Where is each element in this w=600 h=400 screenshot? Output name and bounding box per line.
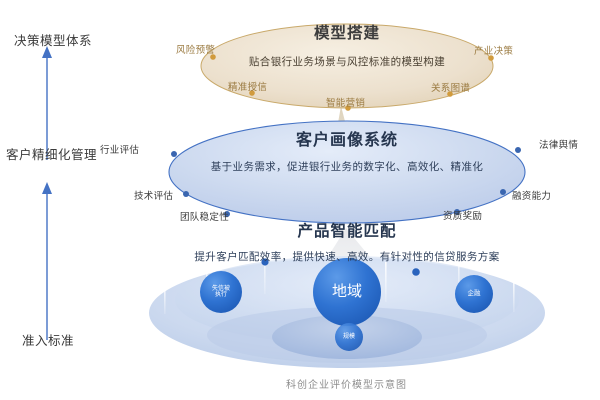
bubble-label: 规模 xyxy=(343,334,355,340)
bubble-line-2: 执行 xyxy=(212,292,230,298)
axis-label-decision-model: 决策模型体系 xyxy=(14,30,92,49)
node-label-industry-decision: 产业决策 xyxy=(474,43,513,57)
diagram-canvas: 决策模型体系 客户精细化管理 准入标准 模型搭建 贴合银行业务场景与风控标准的模… xyxy=(0,0,600,400)
axis-label-customer-management: 客户精细化管理 xyxy=(6,144,97,163)
bubble-label: 企融 xyxy=(468,291,481,298)
tier-title-product-match: 产品智能匹配 xyxy=(247,219,447,241)
node-label-technology-assessment: 技术评估 xyxy=(134,188,173,202)
node-label-risk-warning: 风险预警 xyxy=(176,42,215,56)
bubble-dishonest-executor[interactable]: 失信被 执行 xyxy=(200,271,242,313)
bubble-label: 地域 xyxy=(332,284,362,300)
diagram-caption: 科创企业评价模型示意图 xyxy=(286,376,407,391)
tier-title-model-build: 模型搭建 xyxy=(247,21,447,43)
tier-title-customer-profile: 客户画像系统 xyxy=(247,126,447,150)
bubble-region[interactable]: 地域 xyxy=(313,258,381,326)
tier-subtitle-customer-profile: 基于业务需求，促进银行业务的数字化、高效化、精准化 xyxy=(172,159,522,174)
bubble-enterprise-financing[interactable]: 企融 xyxy=(455,275,493,313)
node-label-industry-assessment: 行业评估 xyxy=(100,142,139,156)
node-label-team-stability: 团队稳定性 xyxy=(180,209,229,223)
node-label-smart-marketing: 智能营销 xyxy=(326,95,365,109)
node-label-legal-opinion: 法律舆情 xyxy=(539,137,578,151)
axis-label-entry-standard: 准入标准 xyxy=(22,330,74,349)
node-label-precise-credit: 精准授信 xyxy=(228,79,267,93)
axis-arrows xyxy=(42,46,52,340)
node-label-financing-capability: 融资能力 xyxy=(512,188,551,202)
tier-subtitle-model-build: 贴合银行业务场景与风控标准的模型构建 xyxy=(197,54,497,69)
bubble-scale[interactable]: 规模 xyxy=(335,323,363,351)
node-label-relation-graph: 关系图谱 xyxy=(431,80,470,94)
node-label-qualification-award: 资质奖励 xyxy=(443,208,482,222)
